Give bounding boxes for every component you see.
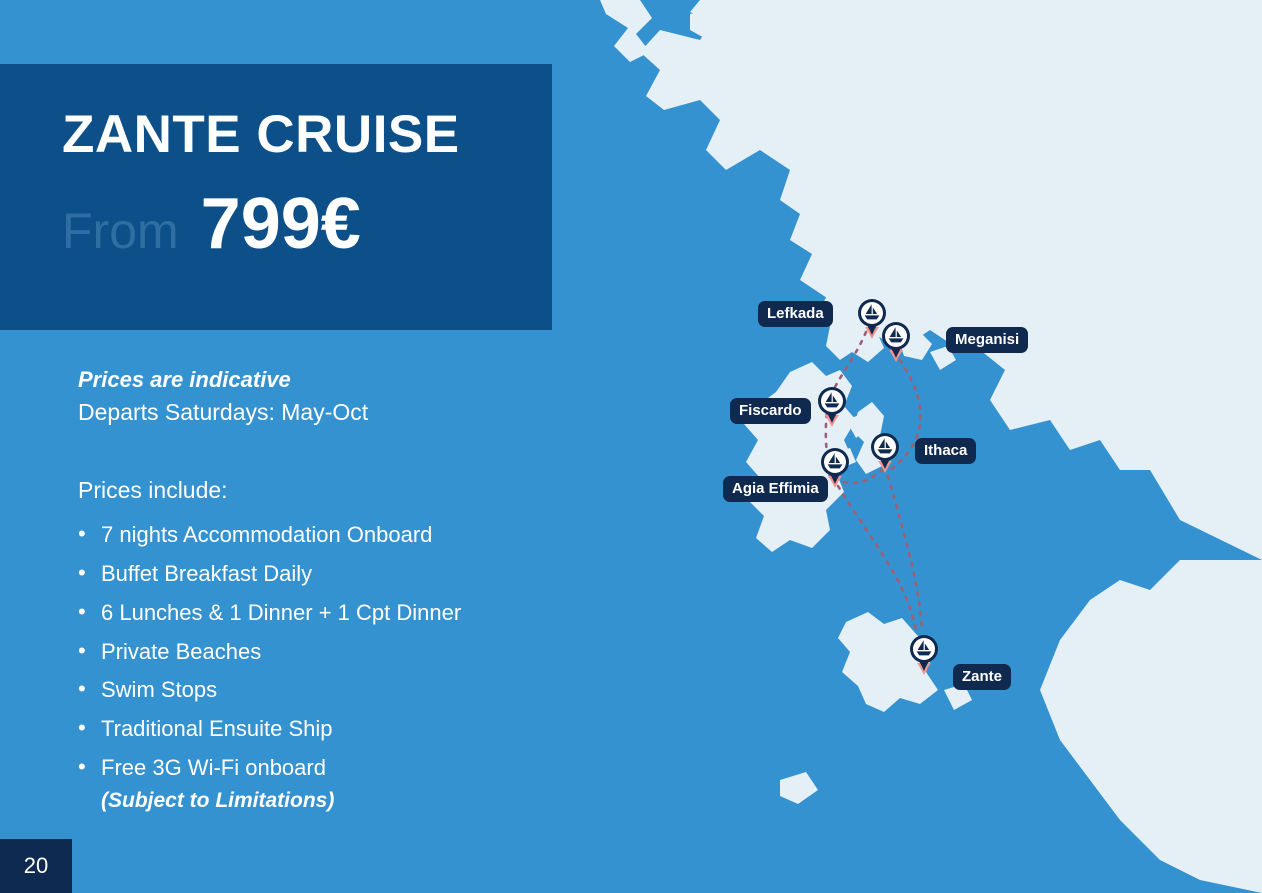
includes-item-label: 6 Lunches & 1 Dinner + 1 Cpt Dinner — [101, 600, 461, 625]
includes-item-label: 7 nights Accommodation Onboard — [101, 522, 432, 547]
map-label-lefkada[interactable]: Lefkada — [758, 301, 833, 327]
map-label-zante[interactable]: Zante — [953, 664, 1011, 690]
page-number-box: 20 — [0, 839, 72, 893]
includes-item-label: Traditional Ensuite Ship — [101, 716, 333, 741]
map-marker-meganisi[interactable] — [879, 320, 913, 364]
includes-list: 7 nights Accommodation OnboardBuffet Bre… — [78, 520, 548, 815]
includes-item-label: Buffet Breakfast Daily — [101, 561, 312, 586]
cruise-offer-slide: LefkadaMeganisiFiscardoIthacaAgia Effimi… — [0, 0, 1262, 893]
offer-details: Prices are indicative Departs Saturdays:… — [78, 364, 548, 823]
departure-note: Departs Saturdays: May-Oct — [78, 396, 548, 429]
page-title: ZANTE CRUISE — [62, 108, 460, 161]
includes-item-label: Swim Stops — [101, 677, 217, 702]
prices-indicative-note: Prices are indicative — [78, 364, 548, 396]
includes-list-item: Buffet Breakfast Daily — [78, 559, 548, 590]
price-value: 799€ — [201, 188, 361, 260]
includes-list-item: Private Beaches — [78, 637, 548, 668]
page-number: 20 — [24, 855, 48, 877]
map-marker-zante[interactable] — [907, 633, 941, 677]
includes-list-item: Traditional Ensuite Ship — [78, 714, 548, 745]
includes-list-item: Free 3G Wi-Fi onboard(Subject to Limitat… — [78, 753, 548, 815]
includes-item-label: Private Beaches — [101, 639, 261, 664]
map-label-meganisi[interactable]: Meganisi — [946, 327, 1028, 353]
includes-list-item: 6 Lunches & 1 Dinner + 1 Cpt Dinner — [78, 598, 548, 629]
includes-list-item: Swim Stops — [78, 675, 548, 706]
includes-list-item: 7 nights Accommodation Onboard — [78, 520, 548, 551]
includes-item-label: Free 3G Wi-Fi onboard — [101, 755, 326, 780]
map-marker-fiscardo[interactable] — [815, 385, 849, 429]
title-panel: ZANTE CRUISE From 799€ — [0, 64, 552, 330]
includes-item-subnote: (Subject to Limitations) — [101, 786, 548, 815]
map-label-agia-effimia[interactable]: Agia Effimia — [723, 476, 828, 502]
map-label-fiscardo[interactable]: Fiscardo — [730, 398, 811, 424]
price-prefix: From — [62, 206, 179, 256]
price-row: From 799€ — [62, 188, 361, 260]
map-label-ithaca[interactable]: Ithaca — [915, 438, 976, 464]
includes-heading: Prices include: — [78, 477, 548, 504]
map-marker-ithaca[interactable] — [868, 431, 902, 475]
